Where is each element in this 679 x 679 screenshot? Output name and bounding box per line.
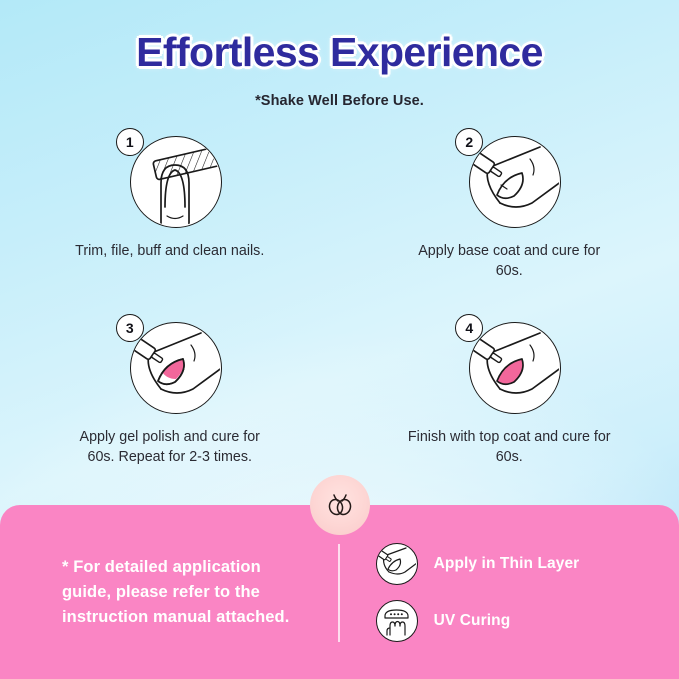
gel-polish-brush-icon	[130, 322, 222, 414]
footer-content: * For detailed application guide, please…	[0, 543, 679, 642]
feature-label: Apply in Thin Layer	[434, 555, 580, 573]
step-figure: 1	[116, 128, 224, 228]
step-figure: 3	[116, 314, 224, 414]
feature-item: Apply in Thin Layer	[376, 543, 580, 585]
thin-layer-icon	[376, 543, 418, 585]
top-coat-brush-icon	[469, 322, 561, 414]
vertical-divider	[338, 544, 340, 642]
step-item: 2 Apply base coat and cure for 60s.	[340, 128, 679, 282]
step-figure: 2	[455, 128, 563, 228]
step-caption: Apply base coat and cure for 60s.	[404, 241, 614, 282]
uv-lamp-icon	[376, 600, 418, 642]
instruction-note-line: instruction manual attached.	[62, 605, 330, 630]
step-number-badge: 3	[116, 314, 144, 342]
step-caption: Trim, file, buff and clean nails.	[65, 241, 275, 261]
steps-grid: 1 Trim, file, buff and clean nails.	[0, 128, 679, 467]
step-number-badge: 1	[116, 128, 144, 156]
base-coat-brush-icon	[469, 136, 561, 228]
feature-label: UV Curing	[434, 612, 511, 630]
feature-list: Apply in Thin Layer	[376, 543, 580, 642]
footer-panel: * For detailed application guide, please…	[0, 505, 679, 679]
step-caption: Finish with top coat and cure for 60s.	[404, 427, 614, 468]
instruction-note-line: guide, please refer to the	[62, 580, 330, 605]
instruction-note: * For detailed application guide, please…	[0, 555, 330, 631]
feature-item: UV Curing	[376, 600, 580, 642]
step-item: 1 Trim, file, buff and clean nails.	[0, 128, 340, 282]
instruction-note-line: * For detailed application	[62, 555, 330, 580]
header: Effortless Experience *Shake Well Before…	[0, 0, 679, 109]
butterfly-logo-icon	[310, 475, 370, 535]
nail-file-icon	[130, 136, 222, 228]
step-caption: Apply gel polish and cure for 60s. Repea…	[65, 427, 275, 468]
page-title: Effortless Experience	[0, 29, 679, 76]
step-item: 3 Apply gel polish and cure for 60s. Rep…	[0, 314, 340, 468]
promo-infographic: Effortless Experience *Shake Well Before…	[0, 0, 679, 679]
step-figure: 4	[455, 314, 563, 414]
page-subtitle: *Shake Well Before Use.	[0, 93, 679, 109]
step-number-badge: 4	[455, 314, 483, 342]
step-item: 4 Finish with top coat and cure for 60s.	[340, 314, 679, 468]
